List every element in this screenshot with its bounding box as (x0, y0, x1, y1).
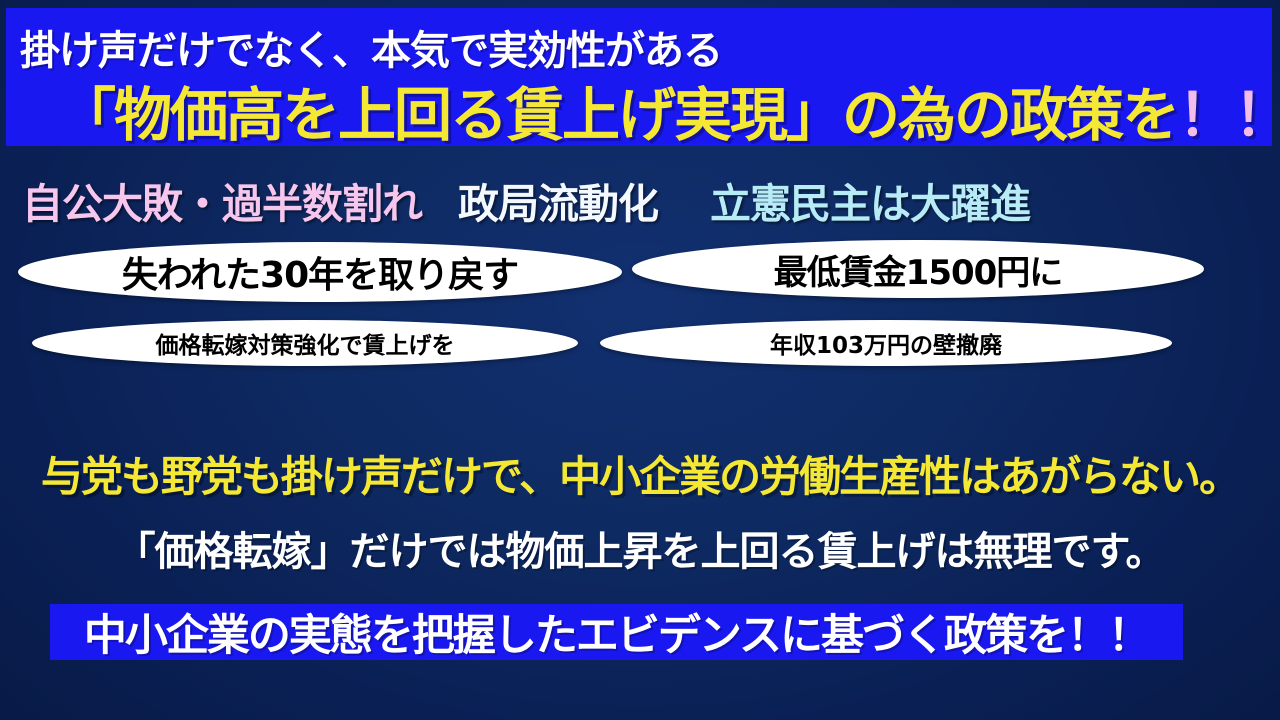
body-statement-price-passthrough: 「価格転嫁」だけでは物価上昇を上回る賃上げは無理です。 (0, 519, 1280, 577)
slide-canvas: 掛け声だけでなく、本気で実効性がある 「物価高を上回る賃上げ実現」の為の政策を！… (0, 0, 1280, 720)
callout-ellipse-price-passthrough: 価格転嫁対策強化で賃上げを (32, 320, 578, 366)
bottom-banner-text: 中小企業の実態を把握したエビデンスに基づく政策を！！ (84, 601, 1149, 663)
headline-political-fluidity: 政局流動化 (458, 170, 658, 230)
header-title-main: 「物価高を上回る賃上げ実現」の為の政策を (58, 81, 1178, 149)
header-title-exclamation: ！！ (1178, 81, 1280, 149)
callout-ellipse-minimum-wage: 最低賃金1500円に (632, 240, 1204, 298)
headline-ruling-party-defeat: 自公大敗・過半数割れ (22, 170, 422, 230)
header-banner: 掛け声だけでなく、本気で実効性がある 「物価高を上回る賃上げ実現」の為の政策を！… (6, 8, 1272, 146)
headline-cdp-gains: 立憲民主は大躍進 (710, 170, 1030, 230)
bottom-banner: 中小企業の実態を把握したエビデンスに基づく政策を！！ (50, 604, 1183, 660)
callout-ellipse-lost-30-years: 失われた30年を取り戻す (18, 242, 622, 302)
headline-row: 自公大敗・過半数割れ 政局流動化 立憲民主は大躍進 (0, 172, 1280, 228)
header-title-line: 「物価高を上回る賃上げ実現」の為の政策を！！ (58, 68, 1280, 152)
body-statement-productivity: 与党も野党も掛け声だけで、中小企業の労働生産性はあがらない。 (0, 443, 1280, 504)
callout-ellipse-income-wall: 年収103万円の壁撤廃 (600, 320, 1172, 366)
